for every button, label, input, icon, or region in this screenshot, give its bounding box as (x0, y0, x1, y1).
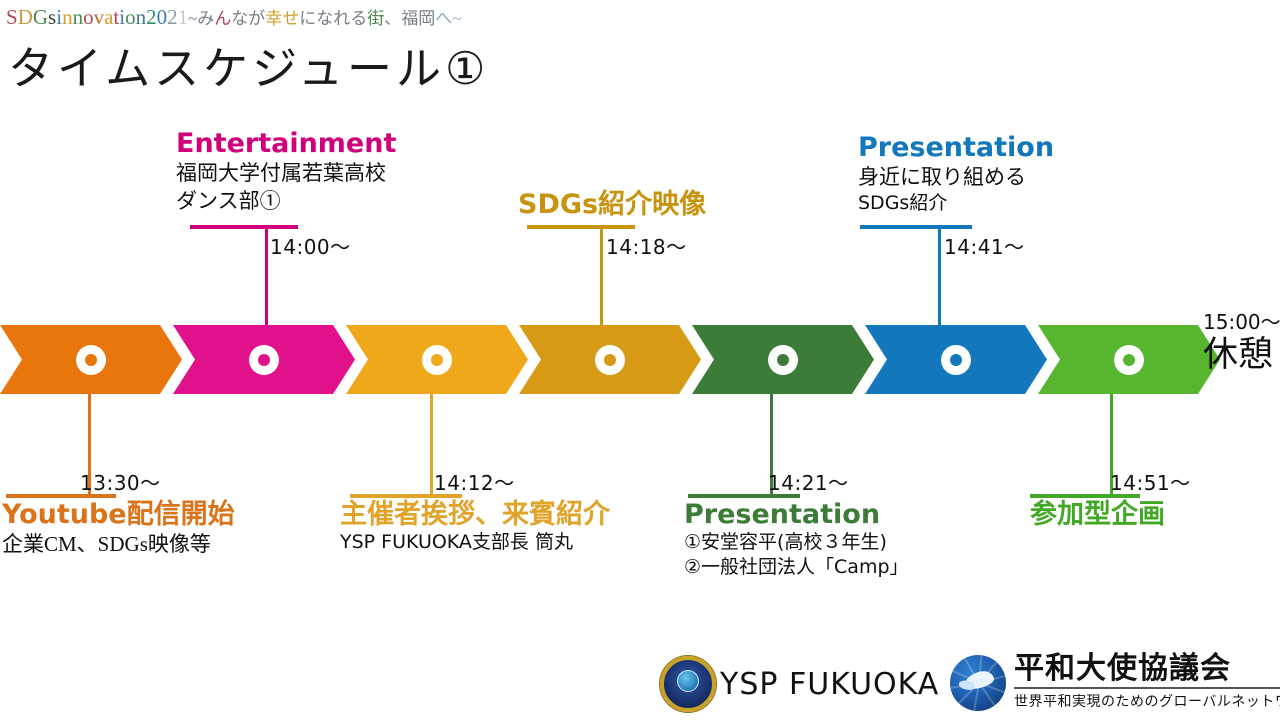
ysp-logo-text: YSP FUKUOKA (720, 667, 939, 702)
event-subtitle-char-18: 1 (178, 5, 189, 30)
event-subtitle-char-21: ん (214, 4, 231, 29)
event-subtitle-char-28: れ (333, 4, 350, 29)
callout-youtube: Youtube配信開始企業CM、SDGs映像等 (2, 500, 235, 558)
callout-stem-entertainment (265, 225, 268, 325)
callout-title-presentation_green: Presentation (684, 500, 909, 530)
timeline-segment-greeting[interactable] (346, 325, 528, 394)
ysp-logo-group: YSP FUKUOKA (660, 656, 939, 712)
ysp-fukuoka-seal-icon (660, 656, 716, 712)
timeline-segment-sdgs-video[interactable] (519, 325, 701, 394)
event-subtitle-char-23: が (248, 4, 265, 29)
event-subtitle-char-2: G (33, 5, 48, 30)
event-subtitle-char-6: n (62, 5, 73, 30)
event-subtitle-char-14: n (136, 5, 147, 30)
callout-line-entertainment-0: 福岡大学付属若葉高校 (176, 159, 396, 187)
timeline-node-center (604, 354, 616, 366)
callout-line-presentation_green-0: ①安堂容平(高校３年生) (684, 530, 909, 556)
timeline-segment-entertainment[interactable] (173, 325, 355, 394)
event-subtitle-char-27: な (316, 4, 333, 29)
timeline-node-center (950, 354, 962, 366)
timeline-node-center (777, 354, 789, 366)
event-subtitle-char-13: o (125, 5, 136, 30)
callout-stem-presentation_blue (938, 225, 941, 325)
callout-time-entertainment: 14:00～ (270, 231, 351, 260)
end-time: 15:00～ (1203, 306, 1280, 335)
timeline-segment-presentation1[interactable] (692, 325, 874, 394)
peace-ambassador-dove-icon (950, 655, 1006, 711)
callout-time-sdgs_video: 14:18～ (606, 231, 687, 260)
page-title: タイムスケジュール① (8, 32, 489, 97)
peace-logo-title: 平和大使協議会 (1014, 654, 1280, 684)
event-subtitle-char-7: n (73, 5, 84, 30)
timeline-node-center (431, 354, 443, 366)
slide-root: SDGs innovation2021~みんなが幸せになれる街、福岡へ ~ タイ… (0, 0, 1280, 720)
callout-title-entertainment: Entertainment (176, 129, 396, 159)
event-subtitle-char-0: S (6, 5, 18, 30)
callout-line-presentation_blue-1: SDGs紹介 (858, 191, 1054, 217)
event-subtitle-char-25: せ (282, 4, 299, 29)
timeline-segment-presentation2[interactable] (865, 325, 1047, 394)
callout-stem-greeting (430, 394, 433, 498)
event-subtitle-char-9: v (94, 5, 105, 30)
timeline-node-icon (422, 345, 452, 375)
event-subtitle-char-19: ~ (188, 9, 197, 29)
callout-time-participation: 14:51～ (1110, 467, 1191, 496)
event-subtitle-char-8: o (83, 5, 94, 30)
callout-line-presentation_blue-0: 身近に取り組める (858, 163, 1054, 191)
callout-title-youtube: Youtube配信開始 (2, 500, 235, 530)
event-subtitle-char-26: に (299, 4, 316, 29)
timeline-node-icon (941, 345, 971, 375)
callout-line-entertainment-1: ダンス部① (176, 187, 396, 215)
callout-time-presentation_blue: 14:41～ (944, 231, 1025, 260)
event-subtitle-char-10: a (104, 5, 113, 30)
timeline-node-icon (76, 345, 106, 375)
event-subtitle: SDGs innovation2021~みんなが幸せになれる街、福岡へ ~ (6, 4, 461, 30)
callout-title-greeting: 主催者挨拶、来賓紹介 (340, 500, 610, 530)
peace-logo-divider (1014, 687, 1280, 689)
event-subtitle-char-1: D (18, 5, 33, 30)
event-subtitle-char-20: み (197, 4, 214, 29)
callout-title-sdgs_video: SDGs紹介映像 (518, 190, 706, 220)
event-subtitle-char-36: ~ (452, 9, 461, 29)
timeline-node-center (258, 354, 270, 366)
callout-rule-presentation_blue (860, 225, 972, 229)
event-subtitle-char-33: 岡 (418, 4, 435, 29)
callout-entertainment: Entertainment福岡大学付属若葉高校ダンス部① (176, 129, 396, 215)
event-subtitle-char-22: な (231, 4, 248, 29)
event-subtitle-char-32: 福 (401, 4, 418, 29)
callout-rule-entertainment (190, 225, 298, 229)
event-subtitle-char-29: る (350, 4, 367, 29)
callout-sdgs_video: SDGs紹介映像 (518, 190, 706, 220)
event-subtitle-char-15: 2 (146, 5, 157, 30)
callout-time-youtube: 13:30～ (80, 467, 161, 496)
timeline-node-center (1123, 354, 1135, 366)
timeline-end-block: 15:00～ 休憩 (1203, 306, 1280, 374)
callout-line-presentation_green-1: ②一般社団法人「Camp」 (684, 555, 909, 581)
peace-logo-tagline: 世界平和実現のためのグローバルネットワーク (1014, 691, 1280, 711)
callout-stem-sdgs_video (600, 225, 603, 325)
callout-presentation_blue: Presentation身近に取り組めるSDGs紹介 (858, 133, 1054, 217)
timeline-node-center (85, 354, 97, 366)
timeline-segment-youtube[interactable] (0, 325, 182, 394)
event-subtitle-char-3: s (48, 5, 56, 30)
callout-title-participation: 参加型企画 (1030, 500, 1165, 530)
callout-presentation_green: Presentation①安堂容平(高校３年生)②一般社団法人「Camp」 (684, 500, 909, 581)
peace-logo-text: 平和大使協議会 世界平和実現のためのグローバルネットワーク (1014, 654, 1280, 711)
timeline-node-icon (1114, 345, 1144, 375)
callout-line-youtube-0: 企業CM、SDGs映像等 (2, 530, 235, 558)
event-subtitle-char-24: 幸 (265, 4, 282, 29)
peace-logo-group: 平和大使協議会 世界平和実現のためのグローバルネットワーク (950, 654, 1280, 711)
timeline-node-icon (768, 345, 798, 375)
callout-title-presentation_blue: Presentation (858, 133, 1054, 163)
event-subtitle-char-31: 、 (384, 4, 401, 29)
callout-line-greeting-0: YSP FUKUOKA支部長 筒丸 (340, 530, 610, 556)
callout-rule-sdgs_video (527, 225, 635, 229)
timeline-node-icon (595, 345, 625, 375)
timeline-segment-participation[interactable] (1038, 325, 1220, 394)
callout-greeting: 主催者挨拶、来賓紹介YSP FUKUOKA支部長 筒丸 (340, 500, 610, 555)
timeline-bar (0, 325, 1200, 394)
event-subtitle-char-16: 0 (157, 5, 168, 30)
callout-time-presentation_green: 14:21～ (768, 467, 849, 496)
end-label: 休憩 (1203, 337, 1280, 374)
event-subtitle-char-34: へ (435, 4, 452, 29)
timeline-node-icon (249, 345, 279, 375)
event-subtitle-char-30: 街 (367, 4, 384, 29)
callout-participation: 参加型企画 (1030, 500, 1165, 530)
footer-logos: YSP FUKUOKA 平和大使協議会 世界平和実現のためのグローバルネットワー… (0, 652, 1280, 720)
callout-time-greeting: 14:12～ (434, 467, 515, 496)
event-subtitle-char-17: 2 (167, 5, 178, 30)
